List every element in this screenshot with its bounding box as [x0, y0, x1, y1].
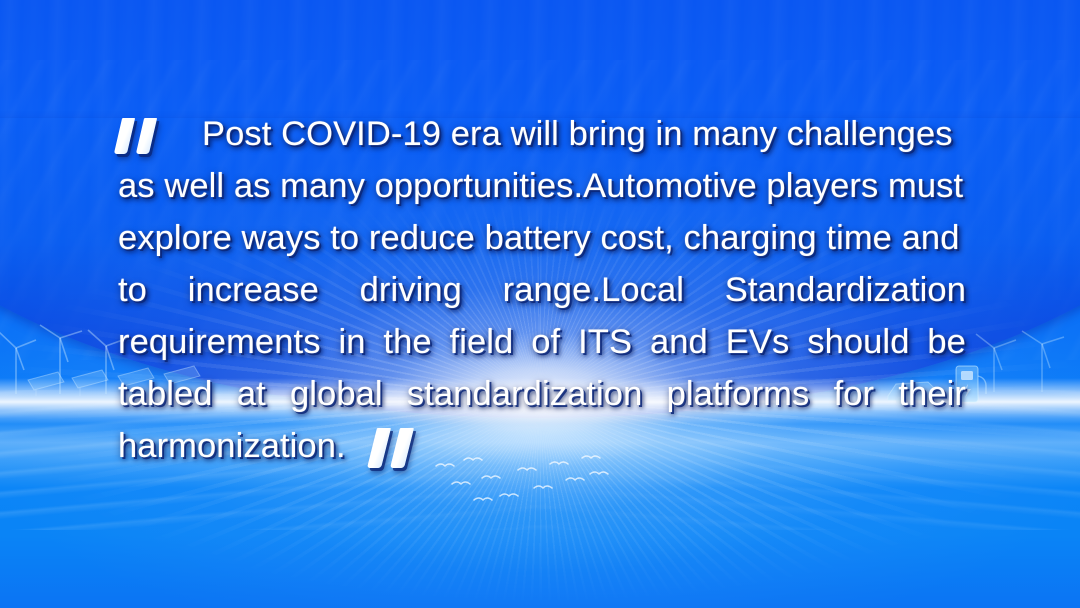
quote-word: of [531, 316, 560, 368]
quote-word: be [927, 316, 966, 368]
quote-line-2-text: as well as many opportunities.Automotive… [118, 167, 963, 205]
quote-line-6: tabledatglobalstandardizationplatformsfo… [118, 368, 966, 420]
quote-word: at [237, 368, 266, 420]
quote-word: ITS [578, 316, 632, 368]
quote-line-7-text: harmonization. [118, 420, 346, 472]
quote-word: field [450, 316, 514, 368]
quote-word: their [898, 368, 966, 420]
quote-line-3: explore ways to reduce battery cost, cha… [118, 212, 966, 264]
quote-line-3-text: explore ways to reduce battery cost, cha… [118, 219, 960, 257]
quote-line-1: Post COVID-19 era will bring in many cha… [118, 108, 966, 160]
quote-line-7: harmonization. [118, 420, 966, 472]
closing-quote-mark [372, 420, 418, 472]
quote-word: to [118, 264, 147, 316]
quote-word: the [383, 316, 431, 368]
quote-word: and [650, 316, 708, 368]
quote-line-2: as well as many opportunities.Automotive… [118, 160, 966, 212]
quote-word: EVs [726, 316, 790, 368]
quote-word: Standardization [725, 264, 966, 316]
quote-word: tabled [118, 368, 213, 420]
quote-line-1-text: Post COVID-19 era will bring in many cha… [202, 108, 953, 160]
quote-word: in [338, 316, 365, 368]
quote-slide: Post COVID-19 era will bring in many cha… [0, 0, 1080, 608]
quote-word: platforms [667, 368, 810, 420]
quote-word: requirements [118, 316, 321, 368]
quote-word: for [834, 368, 875, 420]
quote-word: range.Local [503, 264, 684, 316]
quote-block: Post COVID-19 era will bring in many cha… [118, 108, 966, 472]
quote-word: should [807, 316, 909, 368]
quote-line-5: requirementsinthefieldofITSandEVsshouldb… [118, 316, 966, 368]
quote-line-4: toincreasedrivingrange.LocalStandardizat… [118, 264, 966, 316]
quote-word: driving [360, 264, 462, 316]
opening-quote-mark [118, 108, 162, 160]
quote-word: global [290, 368, 383, 420]
quote-word: standardization [407, 368, 643, 420]
quote-word: increase [188, 264, 319, 316]
